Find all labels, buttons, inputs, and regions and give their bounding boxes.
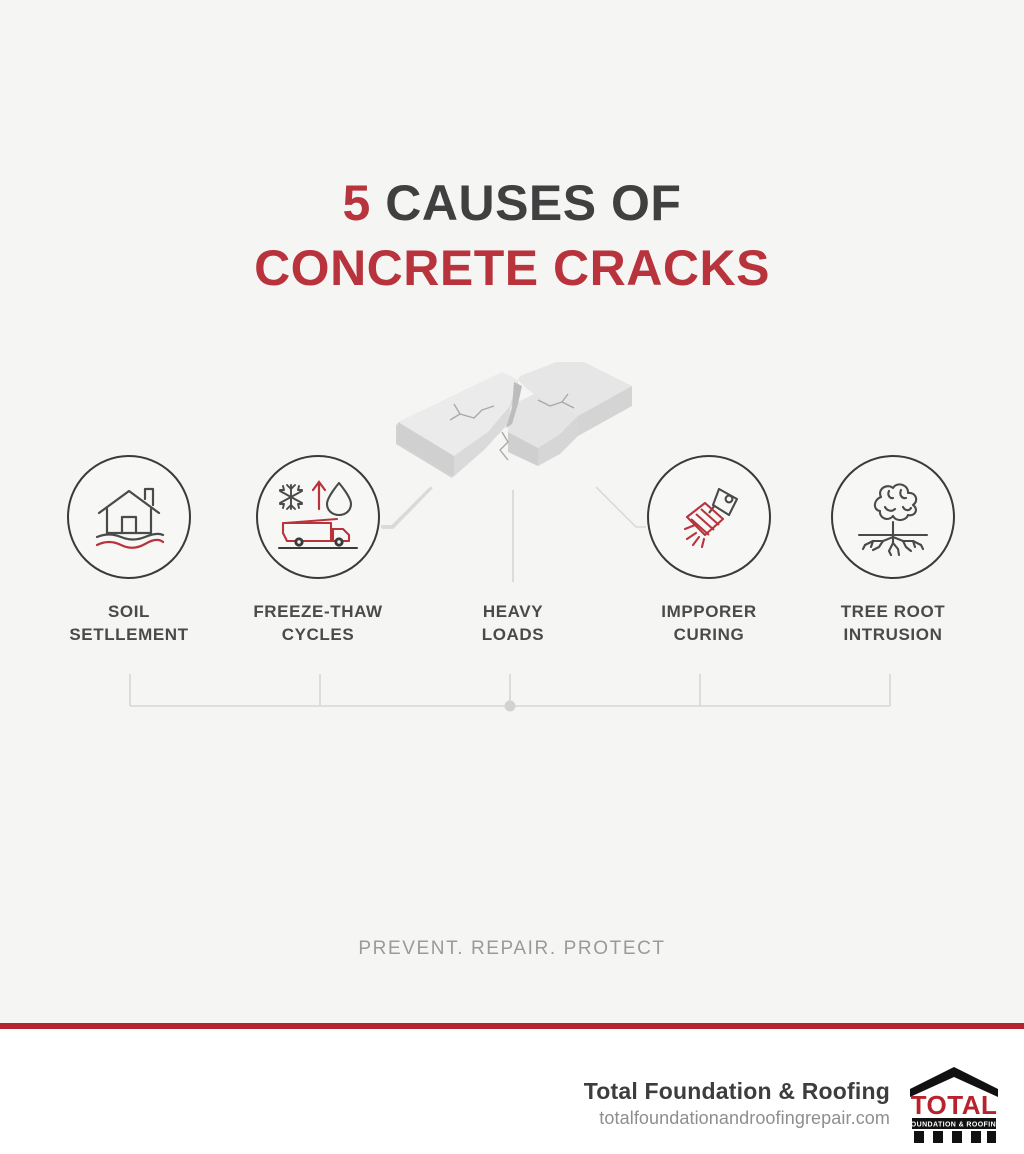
cause-node-soil-settlement[interactable]: SOIL SETLLEMENT — [29, 455, 229, 647]
footer-text: Total Foundation & Roofing totalfoundati… — [584, 1078, 890, 1129]
snowflake-truck-droplet-icon — [275, 477, 361, 557]
icon-circle — [256, 455, 380, 579]
icon-circle — [67, 455, 191, 579]
title-line-2: CONCRETE CRACKS — [0, 243, 1024, 293]
title-line-1: 5 CAUSES OF — [0, 178, 1024, 228]
cause-label: SOIL SETLLEMENT — [29, 601, 229, 647]
svg-text:FOUNDATION & ROOFING: FOUNDATION & ROOFING — [908, 1122, 1000, 1129]
icon-circle — [647, 455, 771, 579]
company-url[interactable]: totalfoundationandroofingrepair.com — [584, 1108, 890, 1129]
bracket-connector — [110, 668, 910, 718]
title-number: 5 — [343, 175, 371, 231]
tree-roots-icon — [851, 477, 935, 557]
cause-node-freeze-thaw[interactable]: FREEZE-THAW CYCLES — [218, 455, 418, 647]
trowel-icon — [669, 477, 749, 557]
cause-label: IMPPORER CURING — [609, 601, 809, 647]
cause-label: HEAVY LOADS — [413, 601, 613, 647]
infographic-page: 5 CAUSES OF CONCRETE CRACKS — [0, 0, 1024, 1154]
house-settlement-icon — [89, 477, 169, 557]
cause-node-heavy-loads[interactable]: HEAVY LOADS — [413, 455, 613, 647]
company-name: Total Foundation & Roofing — [584, 1078, 890, 1105]
bracket-center-dot — [505, 701, 516, 712]
cause-node-tree-root-intrusion[interactable]: TREE ROOT INTRUSION — [793, 455, 993, 647]
heavy-loads-icon — [413, 455, 613, 579]
tagline: PREVENT. REPAIR. PROTECT — [0, 938, 1024, 960]
footer: Total Foundation & Roofing totalfoundati… — [0, 1029, 1024, 1154]
total-foundation-roofing-logo: TOTAL FOUNDATION & ROOFING — [908, 1063, 1000, 1143]
page-title: 5 CAUSES OF CONCRETE CRACKS — [0, 178, 1024, 293]
cause-label: TREE ROOT INTRUSION — [793, 601, 993, 647]
cause-label: FREEZE-THAW CYCLES — [218, 601, 418, 647]
svg-text:TOTAL: TOTAL — [911, 1090, 998, 1120]
cause-node-improper-curing[interactable]: IMPPORER CURING — [609, 455, 809, 647]
title-line-1-text: CAUSES OF — [371, 175, 682, 231]
icon-circle — [831, 455, 955, 579]
